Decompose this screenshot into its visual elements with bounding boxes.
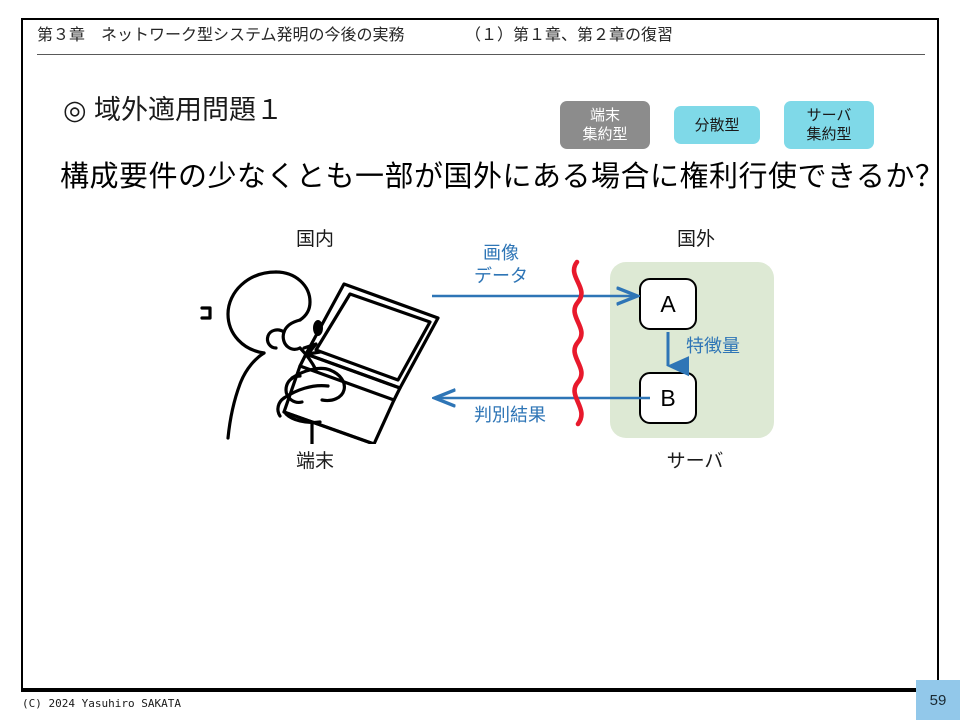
person-with-laptop-illustration (188, 252, 444, 444)
badge-server-line1: サーバ (806, 106, 851, 125)
badge-server-centralized[interactable]: サーバ 集約型 (784, 101, 874, 149)
label-terminal: 端末 (280, 450, 350, 474)
footer-divider (21, 690, 924, 692)
page-title: ◎ 域外適用問題１ (63, 93, 283, 127)
header-chapter-title: 第３章 ネットワーク型システム発明の今後の実務 (37, 25, 405, 47)
label-overseas-region: 国外 (666, 228, 726, 252)
badge-server-line2: 集約型 (806, 125, 851, 144)
badge-terminal-line1: 端末 (582, 106, 627, 125)
slide-canvas: 第３章 ネットワーク型システム発明の今後の実務 （１）第１章、第２章の復習 ◎ … (0, 0, 960, 720)
page-number-badge: 59 (916, 680, 960, 720)
label-image-data-line1: 画像 (483, 243, 519, 263)
label-result: 判別結果 (455, 404, 565, 427)
label-feature-quantity: 特徴量 (686, 335, 776, 358)
node-box-a: A (639, 278, 697, 330)
badge-terminal-centralized[interactable]: 端末 集約型 (560, 101, 650, 149)
header-section-title: （１）第１章、第２章の復習 (465, 25, 673, 47)
label-server: サーバ (650, 450, 740, 474)
copyright-text: (C) 2024 Yasuhiro SAKATA (22, 696, 181, 711)
node-box-b: B (639, 372, 697, 424)
badge-distributed-label: 分散型 (694, 116, 739, 135)
label-domestic-region: 国内 (285, 228, 345, 252)
label-image-data: 画像 データ (456, 242, 546, 288)
question-text: 構成要件の少なくとも一部が国外にある場合に権利行使できるか？ (60, 158, 944, 196)
slide-header: 第３章 ネットワーク型システム発明の今後の実務 （１）第１章、第２章の復習 (21, 18, 939, 58)
header-divider (37, 54, 925, 55)
badge-terminal-line2: 集約型 (582, 125, 627, 144)
badge-distributed[interactable]: 分散型 (674, 106, 760, 144)
label-image-data-line2: データ (474, 266, 528, 286)
